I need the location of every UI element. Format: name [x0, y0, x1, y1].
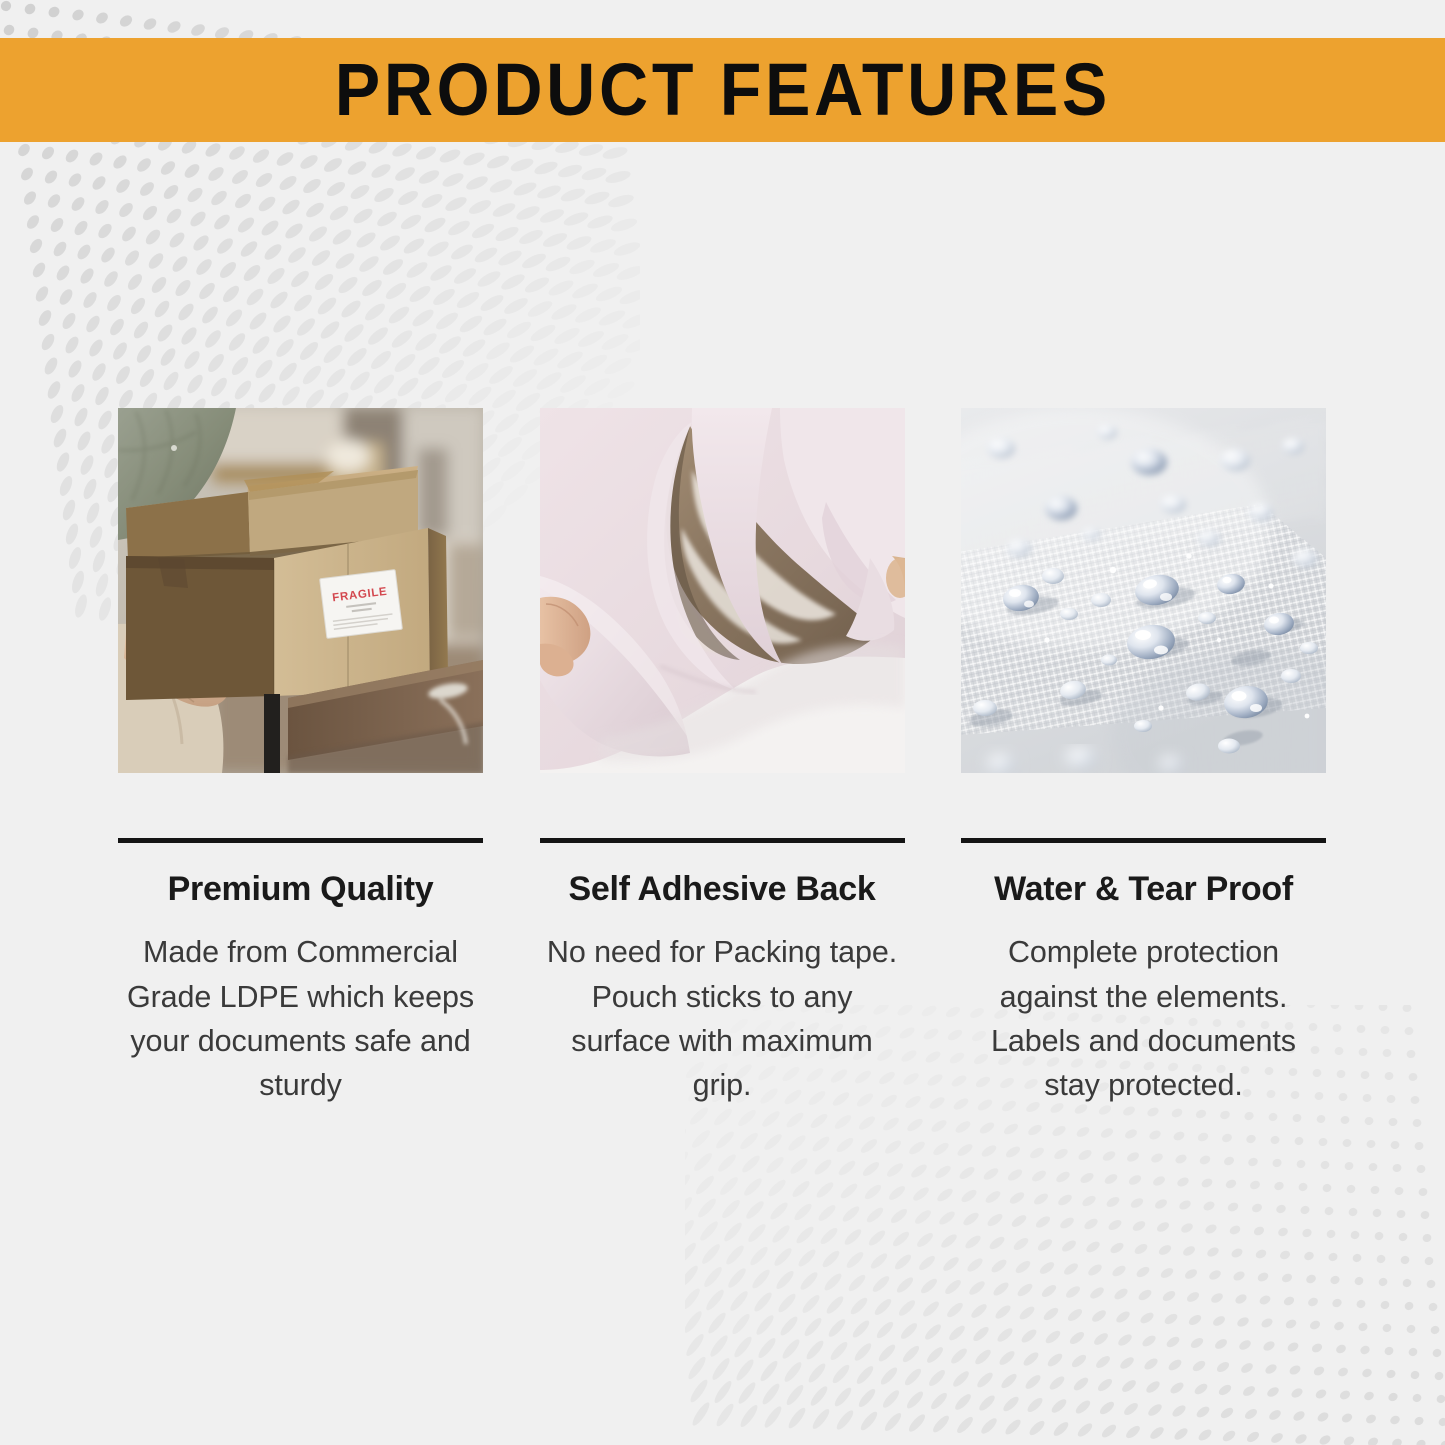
feature-photo-water-droplets — [961, 408, 1326, 773]
feature-card-self-adhesive-back: Self Adhesive Back No need for Packing t… — [540, 408, 905, 1107]
header-banner: PRODUCT FEATURES — [0, 38, 1445, 142]
feature-body: Complete protection against the elements… — [961, 930, 1326, 1107]
feature-body: No need for Packing tape. Pouch sticks t… — [540, 930, 905, 1107]
feature-photo-boxes: FRAGILE — [118, 408, 483, 773]
page-title: PRODUCT FEATURES — [334, 53, 1110, 127]
feature-body: Made from Commercial Grade LDPE which ke… — [118, 930, 483, 1107]
photo-droplets-illustration — [961, 408, 1326, 773]
fragile-label: FRAGILE — [320, 570, 403, 639]
feature-card-premium-quality: FRAGILE — [118, 408, 483, 1107]
feature-heading: Water & Tear Proof — [961, 871, 1326, 908]
feature-grid: FRAGILE — [118, 408, 1326, 1107]
feature-card-water-tear-proof: Water & Tear Proof Complete protection a… — [961, 408, 1326, 1107]
feature-photo-adhesive-pouch — [540, 408, 905, 773]
feature-divider-rule — [540, 838, 905, 843]
feature-divider-rule — [118, 838, 483, 843]
infographic-page: PRODUCT FEATURES — [0, 0, 1445, 1445]
photo-boxes-illustration: FRAGILE — [118, 408, 483, 773]
photo-adhesive-illustration — [540, 408, 905, 773]
feature-heading: Premium Quality — [118, 871, 483, 908]
feature-divider-rule — [961, 838, 1326, 843]
feature-heading: Self Adhesive Back — [540, 871, 905, 908]
